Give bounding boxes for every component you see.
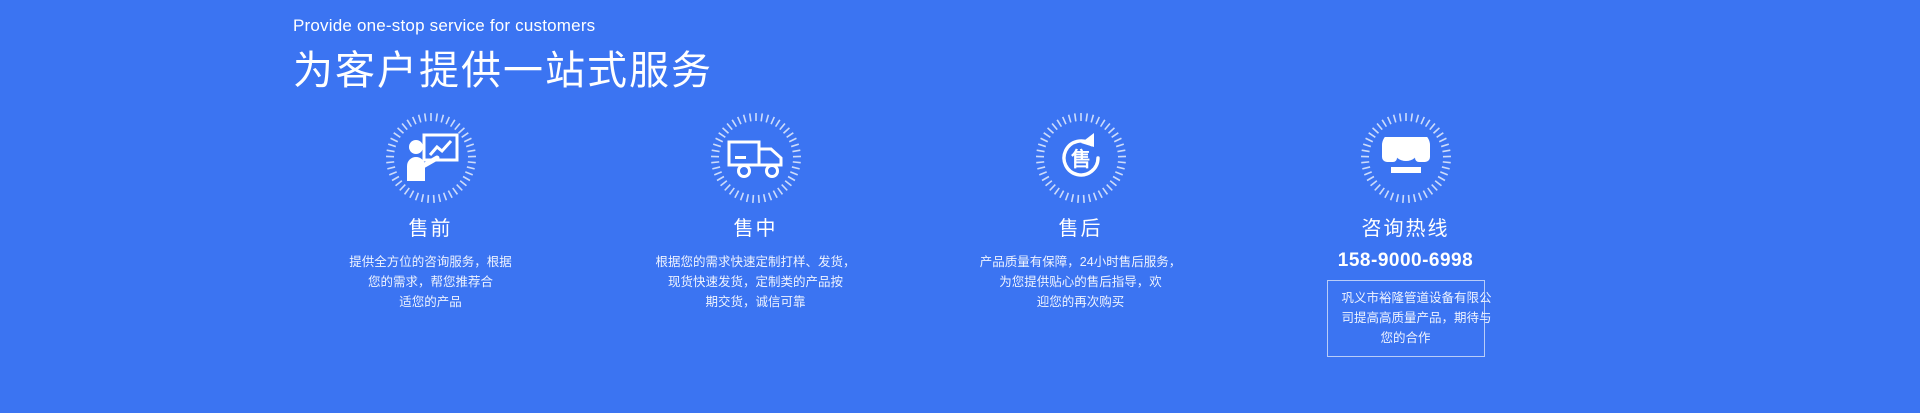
hotline-phone-number[interactable]: 158-9000-6998: [1338, 250, 1473, 273]
service-columns: 售前 提供全方位的咨询服务，根据 您的需求，帮您推荐合 适您的产品: [268, 112, 1568, 357]
desc-line: 为您提供贴心的售后指导，欢: [980, 272, 1181, 292]
column-description: 提供全方位的咨询服务，根据 您的需求，帮您推荐合 适您的产品: [349, 252, 512, 312]
company-note-box: 巩义市裕隆管道设备有限公 司提高高质量产品，期待与 您的合作: [1327, 280, 1485, 357]
column-title: 售后: [1059, 216, 1103, 242]
after-sales-refresh-icon: 售: [1035, 112, 1127, 204]
presentation-person-icon: [385, 112, 477, 204]
note-line: 巩义市裕隆管道设备有限公: [1342, 288, 1470, 308]
banner-subtitle: Provide one-stop service for customers: [293, 16, 713, 36]
desc-line: 提供全方位的咨询服务，根据: [349, 252, 512, 272]
delivery-truck-icon: [710, 112, 802, 204]
column-title: 售中: [734, 216, 778, 242]
banner-title: 为客户提供一站式服务: [293, 48, 713, 94]
desc-line: 适您的产品: [349, 292, 512, 312]
service-column-hotline: 咨询热线 158-9000-6998 巩义市裕隆管道设备有限公 司提高高质量产品…: [1243, 112, 1568, 357]
column-description: 产品质量有保障，24小时售后服务， 为您提供贴心的售后指导，欢 迎您的再次购买: [980, 252, 1181, 312]
desc-line: 根据您的需求快速定制打样、发货，: [655, 252, 855, 272]
column-title: 售前: [409, 216, 453, 242]
desc-line: 迎您的再次购买: [980, 292, 1181, 312]
svg-text:售: 售: [1071, 147, 1091, 171]
note-line: 司提高高质量产品，期待与: [1342, 308, 1470, 328]
telephone-icon: [1360, 112, 1452, 204]
note-line: 您的合作: [1342, 328, 1470, 348]
promo-banner: Provide one-stop service for customers 为…: [0, 0, 1920, 413]
desc-line: 您的需求，帮您推荐合: [349, 272, 512, 292]
desc-line: 产品质量有保障，24小时售后服务，: [980, 252, 1181, 272]
service-column-in-sales: 售中 根据您的需求快速定制打样、发货， 现货快速发货，定制类的产品按 期交货，诚…: [593, 112, 918, 312]
service-column-after-sales: 售 售后 产品质量有保障，24小时售后服务， 为您提供贴心的售后指导，欢 迎您的…: [918, 112, 1243, 312]
service-column-pre-sales: 售前 提供全方位的咨询服务，根据 您的需求，帮您推荐合 适您的产品: [268, 112, 593, 312]
column-title: 咨询热线: [1362, 216, 1450, 242]
column-description: 根据您的需求快速定制打样、发货， 现货快速发货，定制类的产品按 期交货，诚信可靠: [655, 252, 855, 312]
heading-block: Provide one-stop service for customers 为…: [293, 16, 713, 94]
desc-line: 现货快速发货，定制类的产品按: [655, 272, 855, 292]
desc-line: 期交货，诚信可靠: [655, 292, 855, 312]
